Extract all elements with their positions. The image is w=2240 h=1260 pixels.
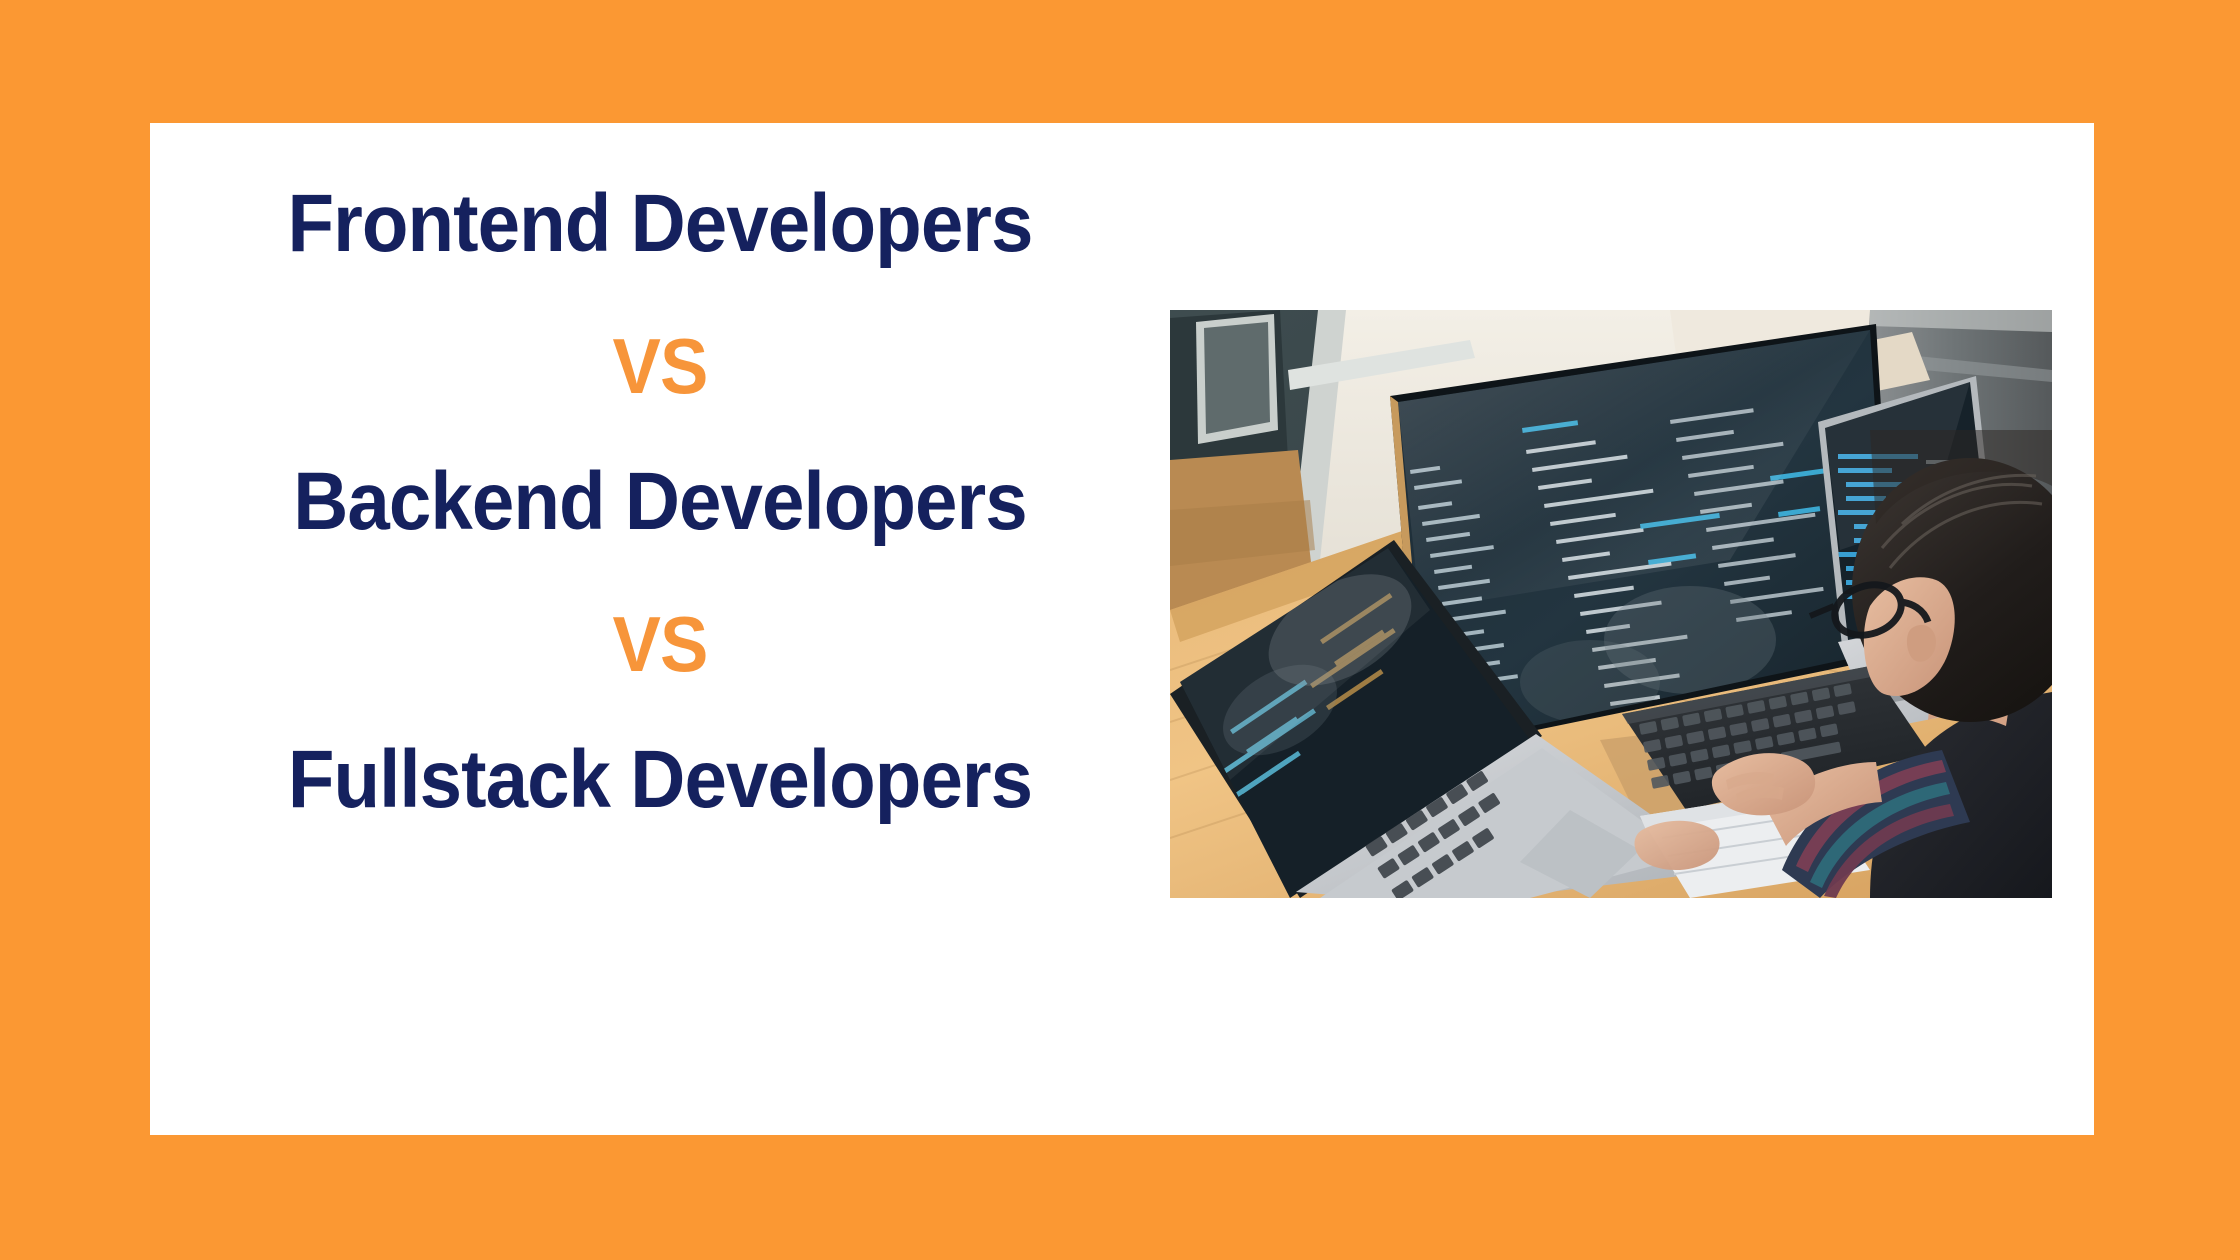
headline-line-backend: Backend Developers (186, 461, 1135, 543)
versus-label-2: VS (186, 605, 1135, 683)
headline-line-frontend: Frontend Developers (186, 183, 1135, 265)
versus-label-1: VS (186, 327, 1135, 405)
spacer-3 (150, 543, 1170, 605)
slide-canvas: Frontend Developers VS Backend Developer… (0, 0, 2240, 1260)
content-card: Frontend Developers VS Backend Developer… (150, 123, 2094, 1135)
headline-line-fullstack: Fullstack Developers (186, 739, 1135, 821)
workspace-illustration (1170, 310, 2052, 898)
spacer-4 (150, 683, 1170, 739)
headline-block: Frontend Developers VS Backend Developer… (150, 183, 1170, 821)
spacer-1 (150, 265, 1170, 327)
spacer-2 (150, 405, 1170, 461)
developer-workspace-photo (1170, 310, 2052, 898)
